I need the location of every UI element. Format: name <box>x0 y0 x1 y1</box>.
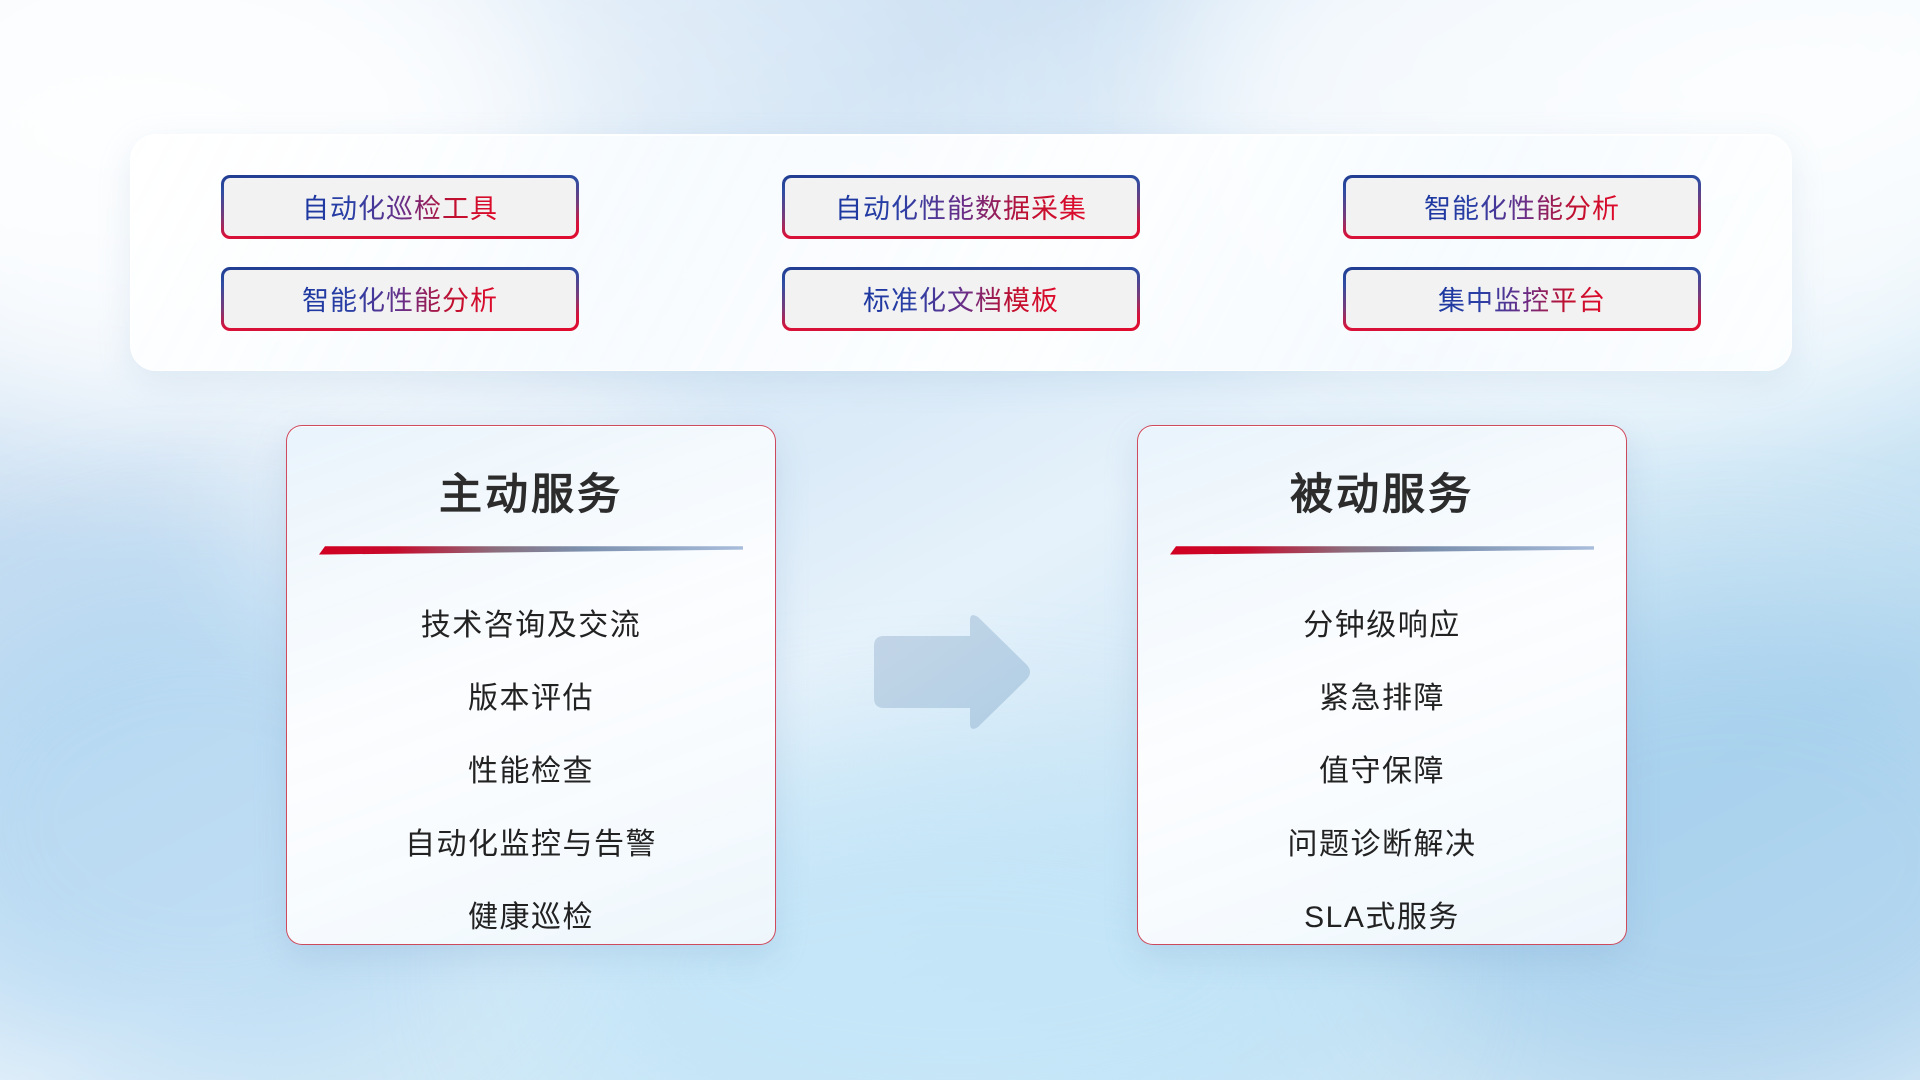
capability-chip[interactable]: 智能化性能分析 <box>1343 175 1701 239</box>
capability-chip-label: 智能化性能分析 <box>302 279 498 318</box>
service-item: 健康巡检 <box>468 881 594 945</box>
capability-panel: 自动化巡检工具 自动化性能数据采集 智能化性能分析 智能化性能分析 标准化文档模… <box>130 134 1792 371</box>
capability-chip-label: 集中监控平台 <box>1438 279 1606 318</box>
service-item: 自动化监控与告警 <box>405 808 657 881</box>
capability-chip[interactable]: 智能化性能分析 <box>221 267 579 331</box>
service-card-proactive: 主动服务 技术咨询及交流 版本评估 性能检查 自动化监控与告警 <box>286 425 776 945</box>
capability-chip[interactable]: 标准化文档模板 <box>782 267 1140 331</box>
capability-row-2: 智能化性能分析 标准化文档模板 集中监控平台 <box>221 267 1701 331</box>
service-item: 值守保障 <box>1319 735 1445 808</box>
service-item-list: 技术咨询及交流 版本评估 性能检查 自动化监控与告警 健康巡检 <box>287 589 775 945</box>
slide-canvas: 自动化巡检工具 自动化性能数据采集 智能化性能分析 智能化性能分析 标准化文档模… <box>0 0 1920 1080</box>
service-item: 紧急排障 <box>1319 662 1445 735</box>
card-title: 被动服务 <box>1138 460 1626 522</box>
capability-chip[interactable]: 自动化性能数据采集 <box>782 175 1140 239</box>
service-item-list: 分钟级响应 紧急排障 值守保障 问题诊断解决 SLA式服务 <box>1138 589 1626 945</box>
capability-row-1: 自动化巡检工具 自动化性能数据采集 智能化性能分析 <box>221 175 1701 239</box>
service-item: 性能检查 <box>468 735 594 808</box>
service-item: 版本评估 <box>468 662 594 735</box>
card-divider <box>319 544 743 555</box>
capability-chip-label: 标准化文档模板 <box>863 279 1059 318</box>
service-item: 问题诊断解决 <box>1288 808 1477 881</box>
card-divider <box>1170 544 1594 555</box>
capability-chip-label: 自动化巡检工具 <box>302 187 498 226</box>
card-title: 主动服务 <box>287 460 775 522</box>
capability-chip[interactable]: 集中监控平台 <box>1343 267 1701 331</box>
capability-chip-label: 智能化性能分析 <box>1424 187 1620 226</box>
capability-chip[interactable]: 自动化巡检工具 <box>221 175 579 239</box>
flow-arrow-icon <box>866 612 1034 732</box>
service-card-reactive: 被动服务 分钟级响应 紧急排障 值守保障 问题诊断解决 <box>1137 425 1627 945</box>
capability-chip-label: 自动化性能数据采集 <box>835 187 1087 226</box>
service-item: 技术咨询及交流 <box>421 589 642 662</box>
service-item: SLA式服务 <box>1304 881 1460 945</box>
service-item: 分钟级响应 <box>1303 589 1461 662</box>
